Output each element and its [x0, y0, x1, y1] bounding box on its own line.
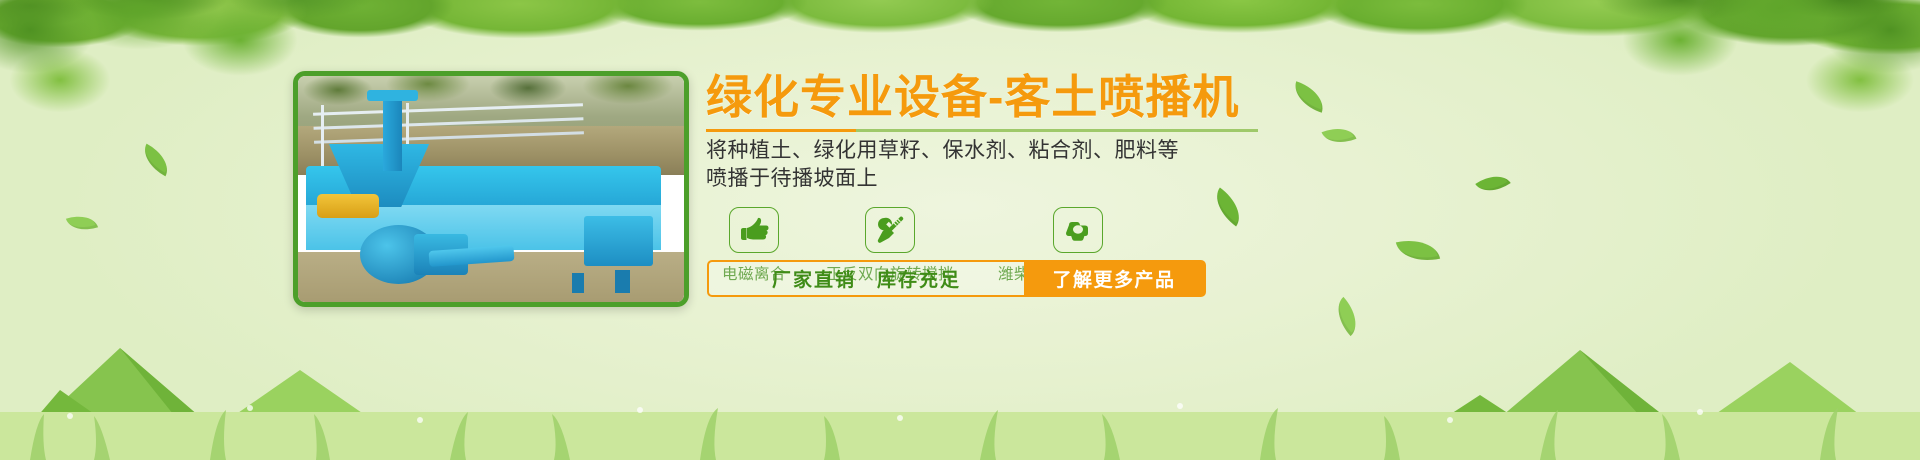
leaf-decoration — [137, 144, 175, 177]
engine-gear-icon — [1053, 207, 1103, 253]
title-divider — [706, 129, 1258, 132]
grass-decoration — [0, 340, 1920, 460]
learn-more-button[interactable]: 了解更多产品 — [1024, 262, 1204, 295]
banner-content: 绿化专业设备-客土喷播机 将种植土、绿化用草籽、保水剂、粘合剂、肥料等 喷播于待… — [706, 72, 1836, 284]
product-photo — [293, 71, 689, 307]
subtitle-line-2: 喷播于待播坡面上 — [706, 165, 1836, 193]
subtitle-line-1: 将种植土、绿化用草籽、保水剂、粘合剂、肥料等 — [706, 137, 1836, 165]
cta-bar: 厂家直销 库存充足 了解更多产品 — [707, 260, 1206, 297]
wrench-screwdriver-icon — [865, 207, 915, 253]
cta-slogan: 厂家直销 库存充足 — [709, 262, 1024, 295]
thumbs-up-icon — [729, 207, 779, 253]
page-title: 绿化专业设备-客土喷播机 — [706, 72, 1836, 123]
promo-banner: 绿化专业设备-客土喷播机 将种植土、绿化用草籽、保水剂、粘合剂、肥料等 喷播于待… — [0, 0, 1920, 460]
